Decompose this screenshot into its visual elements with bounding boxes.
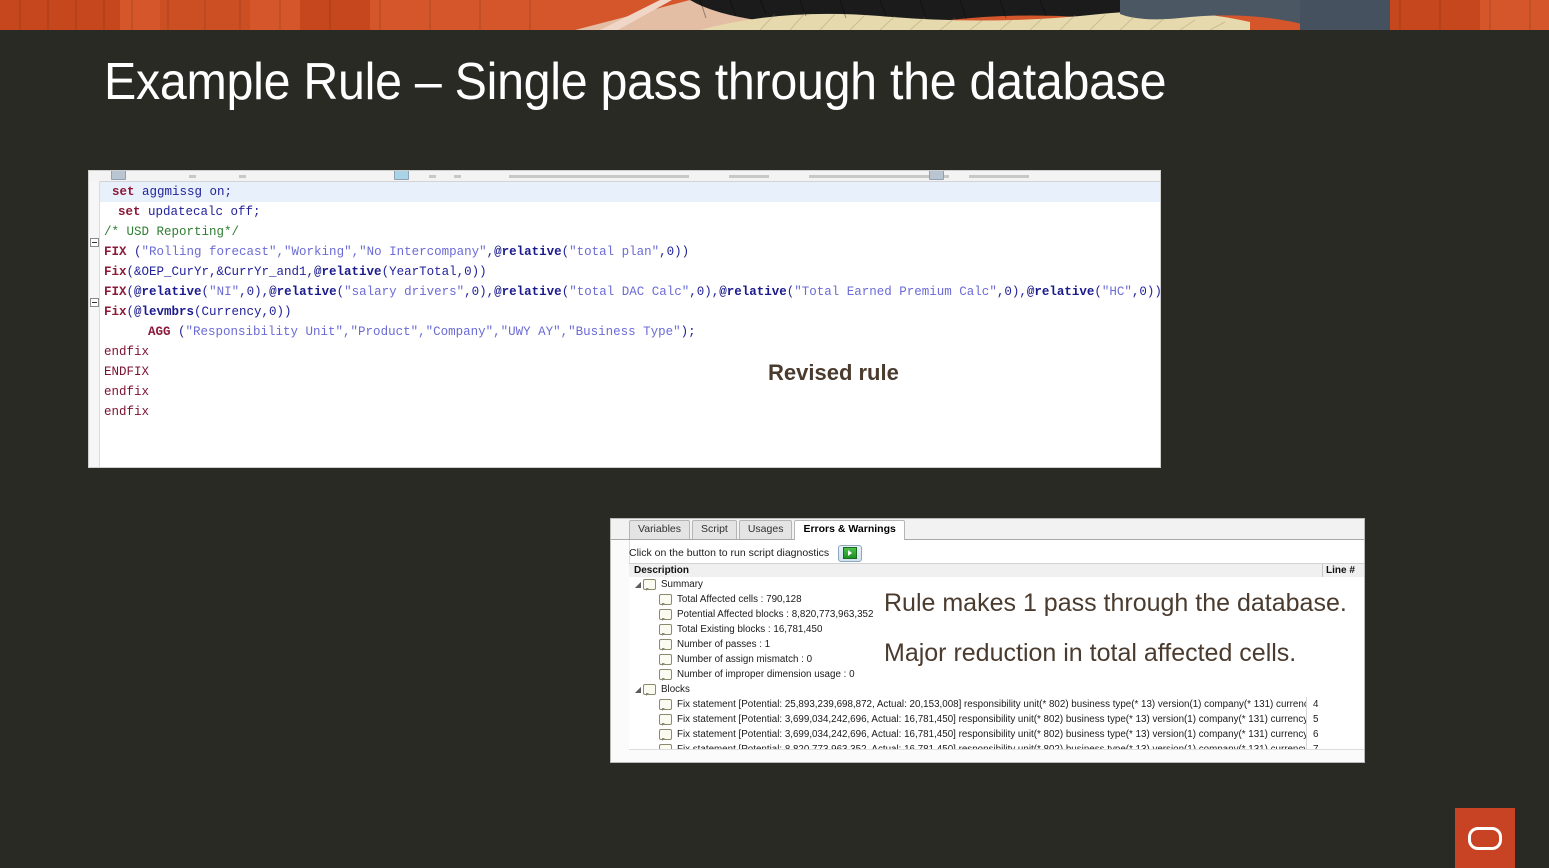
tab-usages[interactable]: Usages bbox=[739, 520, 793, 539]
code-token: "Total Earned Premium Calc" bbox=[794, 285, 997, 299]
tree-row-label: Total Affected cells : 790,128 bbox=[677, 594, 802, 605]
tree-row-label: Number of assign mismatch : 0 bbox=[677, 654, 812, 665]
message-bubble-icon bbox=[659, 609, 672, 620]
tree-expander-icon[interactable]: ◢ bbox=[633, 580, 643, 589]
tree-expander-icon[interactable]: ◢ bbox=[633, 685, 643, 694]
message-bubble-icon bbox=[659, 729, 672, 740]
message-bubble-icon bbox=[659, 624, 672, 635]
code-token: AGG bbox=[148, 325, 171, 339]
code-line: FIX ("Rolling forecast","Working","No In… bbox=[100, 242, 1160, 262]
tree-row[interactable]: ◢Blocks bbox=[629, 682, 1364, 697]
code-token: (&OEP_CurYr,&CurrYr_and1, bbox=[127, 265, 315, 279]
tree-row[interactable]: Fix statement [Potential: 3,699,034,242,… bbox=[629, 712, 1364, 727]
tab-variables[interactable]: Variables bbox=[629, 520, 690, 539]
message-bubble-icon bbox=[643, 579, 656, 590]
code-token: ,0), bbox=[464, 285, 494, 299]
code-line: set updatecalc off; bbox=[100, 202, 1160, 222]
code-token: "Responsibility Unit","Product","Company… bbox=[186, 325, 681, 339]
code-token: ); bbox=[681, 325, 696, 339]
message-bubble-icon bbox=[659, 669, 672, 680]
code-token: , bbox=[487, 245, 495, 259]
calc-script-editor-screenshot: set aggmissg on;set updatecalc off;/* US… bbox=[88, 170, 1161, 468]
code-line: /* USD Reporting*/ bbox=[100, 222, 1160, 242]
code-token: ,0)) bbox=[659, 245, 689, 259]
tree-row-label: Fix statement [Potential: 3,699,034,242,… bbox=[677, 729, 1329, 740]
fold-toggle-icon[interactable] bbox=[90, 298, 99, 307]
editor-fold-gutter[interactable] bbox=[89, 181, 100, 467]
tab-script[interactable]: Script bbox=[692, 520, 737, 539]
play-icon bbox=[843, 547, 857, 559]
callout-cell-reduction: Major reduction in total affected cells. bbox=[884, 639, 1296, 668]
diagnostics-tab-bar[interactable]: VariablesScriptUsagesErrors & Warnings bbox=[611, 519, 1364, 540]
code-token: @levmbrs bbox=[134, 305, 194, 319]
code-token: ENDFIX bbox=[104, 365, 149, 379]
code-token: ( bbox=[127, 285, 135, 299]
run-diagnostics-button[interactable] bbox=[838, 545, 862, 562]
fold-toggle-icon[interactable] bbox=[90, 238, 99, 247]
editor-code-area[interactable]: set aggmissg on;set updatecalc off;/* US… bbox=[100, 182, 1160, 467]
code-token: "Rolling forecast","Working","No Interco… bbox=[142, 245, 487, 259]
code-token: @relative bbox=[719, 285, 787, 299]
tree-row-label: Potential Affected blocks : 8,820,773,96… bbox=[677, 609, 873, 620]
code-token: FIX bbox=[104, 285, 127, 299]
code-token: "NI" bbox=[209, 285, 239, 299]
message-bubble-icon bbox=[659, 714, 672, 725]
code-token: endfix bbox=[104, 405, 149, 419]
code-token: /* USD Reporting*/ bbox=[104, 225, 239, 239]
code-token: "HC" bbox=[1102, 285, 1132, 299]
code-line: endfix bbox=[100, 402, 1160, 422]
tree-row-label: Number of improper dimension usage : 0 bbox=[677, 669, 855, 680]
panel-left-rail bbox=[611, 540, 630, 762]
diagnostics-hint-label: Click on the button to run script diagno… bbox=[629, 547, 829, 559]
code-token: Fix bbox=[104, 265, 127, 279]
tree-row[interactable]: Number of improper dimension usage : 0 bbox=[629, 667, 1364, 682]
editor-toolbar-strip bbox=[89, 171, 1160, 182]
code-token: ,0), bbox=[689, 285, 719, 299]
code-line: endfix bbox=[100, 382, 1160, 402]
code-token: "total plan" bbox=[569, 245, 659, 259]
tree-row[interactable]: Total Existing blocks : 16,781,450 bbox=[629, 622, 1364, 637]
callout-pass-count: Rule makes 1 pass through the database. bbox=[884, 589, 1347, 618]
tree-row-label: Total Existing blocks : 16,781,450 bbox=[677, 624, 822, 635]
code-line: FIX(@relative("NI",0),@relative("salary … bbox=[100, 282, 1160, 302]
code-token: set bbox=[112, 185, 142, 199]
diagnostics-hint-row: Click on the button to run script diagno… bbox=[629, 544, 862, 562]
tree-row-label: Summary bbox=[661, 579, 703, 590]
code-token: (YearTotal,0)) bbox=[382, 265, 487, 279]
code-token: ( bbox=[127, 245, 142, 259]
code-line: AGG ("Responsibility Unit","Product","Co… bbox=[100, 322, 1160, 342]
tree-row-line-number: 4 bbox=[1306, 697, 1364, 712]
column-header-description: Description bbox=[634, 565, 689, 576]
code-line: endfix bbox=[100, 342, 1160, 362]
code-line: ENDFIX bbox=[100, 362, 1160, 382]
code-token: @relative bbox=[314, 265, 382, 279]
panel-bottom-rail bbox=[629, 749, 1364, 762]
code-line: Fix(@levmbrs(Currency,0)) bbox=[100, 302, 1160, 322]
code-token: "total DAC Calc" bbox=[569, 285, 689, 299]
tab-errors-warnings[interactable]: Errors & Warnings bbox=[794, 520, 904, 540]
oracle-logo bbox=[1455, 808, 1515, 868]
code-token: ( bbox=[202, 285, 210, 299]
message-bubble-icon bbox=[643, 684, 656, 695]
decorative-banner bbox=[0, 0, 1549, 30]
code-token: ( bbox=[337, 285, 345, 299]
code-token: Fix bbox=[104, 305, 127, 319]
code-token: @relative bbox=[494, 285, 562, 299]
code-token: (Currency,0)) bbox=[194, 305, 292, 319]
code-token: FIX bbox=[104, 245, 127, 259]
tree-row-line-number: 6 bbox=[1306, 727, 1364, 742]
tree-row[interactable]: Fix statement [Potential: 3,699,034,242,… bbox=[629, 727, 1364, 742]
code-token: @relative bbox=[1027, 285, 1095, 299]
tree-row-label: Blocks bbox=[661, 684, 690, 695]
tree-row-line-number: 5 bbox=[1306, 712, 1364, 727]
code-token: set bbox=[118, 205, 148, 219]
code-token: ,0), bbox=[239, 285, 269, 299]
code-token: ( bbox=[562, 245, 570, 259]
tree-row[interactable]: Fix statement [Potential: 25,893,239,698… bbox=[629, 697, 1364, 712]
column-header-line: Line # bbox=[1326, 565, 1355, 576]
code-token: endfix bbox=[104, 385, 149, 399]
oracle-o-icon bbox=[1468, 827, 1502, 850]
code-token: updatecalc off; bbox=[148, 205, 261, 219]
code-token: @relative bbox=[134, 285, 202, 299]
code-token: ,0)) bbox=[1132, 285, 1161, 299]
code-token: ,0), bbox=[997, 285, 1027, 299]
page-title: Example Rule – Single pass through the d… bbox=[104, 52, 1166, 112]
code-token: endfix bbox=[104, 345, 149, 359]
revised-rule-callout: Revised rule bbox=[768, 360, 899, 386]
column-divider bbox=[1322, 564, 1323, 578]
code-token: ( bbox=[171, 325, 186, 339]
tree-row-label: Number of passes : 1 bbox=[677, 639, 770, 650]
code-line: Fix(&OEP_CurYr,&CurrYr_and1,@relative(Ye… bbox=[100, 262, 1160, 282]
tree-row-label: Fix statement [Potential: 25,893,239,698… bbox=[677, 699, 1329, 710]
message-bubble-icon bbox=[659, 639, 672, 650]
code-token: "salary drivers" bbox=[344, 285, 464, 299]
message-bubble-icon bbox=[659, 699, 672, 710]
code-token: @relative bbox=[269, 285, 337, 299]
code-token: ( bbox=[127, 305, 135, 319]
message-bubble-icon bbox=[659, 594, 672, 605]
message-bubble-icon bbox=[659, 654, 672, 665]
tree-row-label: Fix statement [Potential: 3,699,034,242,… bbox=[677, 714, 1329, 725]
code-token: aggmissg on; bbox=[142, 185, 232, 199]
code-token: ( bbox=[1094, 285, 1102, 299]
code-line: set aggmissg on; bbox=[100, 182, 1160, 202]
code-token: @relative bbox=[494, 245, 562, 259]
